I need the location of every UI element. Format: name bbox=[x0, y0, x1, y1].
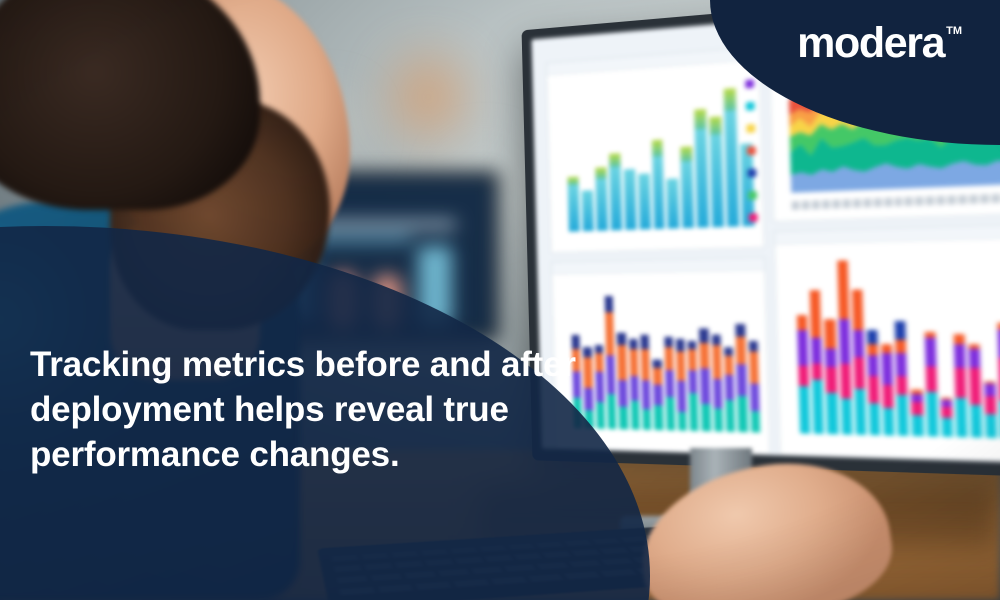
logo-wordmark: modera bbox=[797, 22, 944, 65]
page-title: Tracking metrics before and after deploy… bbox=[30, 342, 590, 477]
trademark-icon: TM bbox=[946, 26, 962, 37]
brand-logo[interactable]: modera TM bbox=[797, 22, 962, 65]
logo-badge: modera TM bbox=[710, 0, 1000, 145]
promo-banner: Tracking metrics before and after deploy… bbox=[0, 0, 1000, 600]
